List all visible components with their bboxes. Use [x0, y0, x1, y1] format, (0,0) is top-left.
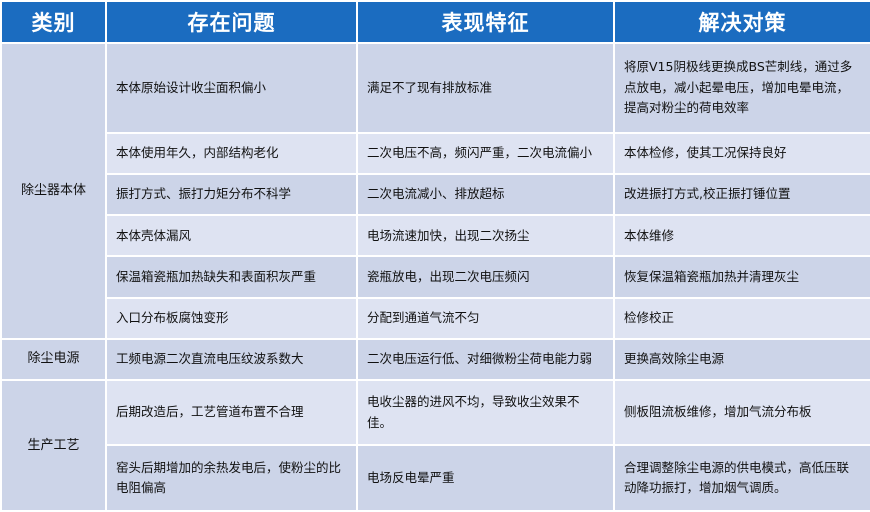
problem-cell: 工频电源二次直流电压纹波系数大 — [106, 339, 357, 380]
problem-cell: 本体原始设计收尘面积偏小 — [106, 43, 357, 133]
characteristic-cell: 分配到通道气流不匀 — [357, 298, 614, 339]
category-cell: 除尘器本体 — [1, 43, 106, 339]
table-row: 窑头后期增加的余热发电后，使粉尘的比电阻偏高电场反电晕严重合理调整除尘电源的供电… — [1, 445, 870, 511]
table-row: 本体使用年久，内部结构老化二次电压不高，频闪严重，二次电流偏小本体检修，使其工况… — [1, 133, 870, 174]
solution-cell: 改进振打方式,校正振打锤位置 — [614, 174, 870, 215]
problem-cell: 保温箱瓷瓶加热缺失和表面积灰严重 — [106, 256, 357, 297]
header-row: 类别 存在问题 表现特征 解决对策 — [1, 1, 870, 43]
header-characteristic: 表现特征 — [357, 1, 614, 43]
characteristic-cell: 瓷瓶放电，出现二次电压频闪 — [357, 256, 614, 297]
problem-cell: 本体使用年久，内部结构老化 — [106, 133, 357, 174]
problem-cell: 本体壳体漏风 — [106, 215, 357, 256]
characteristic-cell: 满足不了现有排放标准 — [357, 43, 614, 133]
table-body: 除尘器本体本体原始设计收尘面积偏小满足不了现有排放标准将原V15阴极线更换成BS… — [1, 43, 870, 511]
table-row: 生产工艺后期改造后，工艺管道布置不合理电收尘器的进风不均，导致收尘效果不佳。侧板… — [1, 380, 870, 446]
characteristic-cell: 二次电压运行低、对细微粉尘荷电能力弱 — [357, 339, 614, 380]
characteristic-cell: 电场流速加快，出现二次扬尘 — [357, 215, 614, 256]
solution-cell: 将原V15阴极线更换成BS芒刺线，通过多点放电，减小起晕电压，增加电晕电流，提高… — [614, 43, 870, 133]
solution-cell: 恢复保温箱瓷瓶加热并清理灰尘 — [614, 256, 870, 297]
category-cell: 除尘电源 — [1, 339, 106, 380]
table-row: 除尘电源工频电源二次直流电压纹波系数大二次电压运行低、对细微粉尘荷电能力弱更换高… — [1, 339, 870, 380]
solution-cell: 检修校正 — [614, 298, 870, 339]
solution-cell: 更换高效除尘电源 — [614, 339, 870, 380]
problem-cell: 窑头后期增加的余热发电后，使粉尘的比电阻偏高 — [106, 445, 357, 511]
characteristic-cell: 二次电压不高，频闪严重，二次电流偏小 — [357, 133, 614, 174]
table-row: 入口分布板腐蚀变形分配到通道气流不匀检修校正 — [1, 298, 870, 339]
solution-cell: 合理调整除尘电源的供电模式，高低压联动降功振打，增加烟气调质。 — [614, 445, 870, 511]
characteristic-cell: 电收尘器的进风不均，导致收尘效果不佳。 — [357, 380, 614, 446]
solution-cell: 侧板阻流板维修，增加气流分布板 — [614, 380, 870, 446]
problem-cell: 振打方式、振打力矩分布不科学 — [106, 174, 357, 215]
problem-cell: 入口分布板腐蚀变形 — [106, 298, 357, 339]
table-container: 类别 存在问题 表现特征 解决对策 除尘器本体本体原始设计收尘面积偏小满足不了现… — [0, 0, 870, 512]
characteristic-cell: 二次电流减小、排放超标 — [357, 174, 614, 215]
table-row: 本体壳体漏风电场流速加快，出现二次扬尘本体维修 — [1, 215, 870, 256]
solution-cell: 本体检修，使其工况保持良好 — [614, 133, 870, 174]
category-cell: 生产工艺 — [1, 380, 106, 511]
table-header: 类别 存在问题 表现特征 解决对策 — [1, 1, 870, 43]
table-row: 保温箱瓷瓶加热缺失和表面积灰严重瓷瓶放电，出现二次电压频闪恢复保温箱瓷瓶加热并清… — [1, 256, 870, 297]
characteristic-cell: 电场反电晕严重 — [357, 445, 614, 511]
header-category: 类别 — [1, 1, 106, 43]
problem-cell: 后期改造后，工艺管道布置不合理 — [106, 380, 357, 446]
table-row: 振打方式、振打力矩分布不科学二次电流减小、排放超标改进振打方式,校正振打锤位置 — [1, 174, 870, 215]
header-problem: 存在问题 — [106, 1, 357, 43]
solution-cell: 本体维修 — [614, 215, 870, 256]
problem-solution-table: 类别 存在问题 表现特征 解决对策 除尘器本体本体原始设计收尘面积偏小满足不了现… — [0, 0, 870, 512]
table-row: 除尘器本体本体原始设计收尘面积偏小满足不了现有排放标准将原V15阴极线更换成BS… — [1, 43, 870, 133]
header-solution: 解决对策 — [614, 1, 870, 43]
